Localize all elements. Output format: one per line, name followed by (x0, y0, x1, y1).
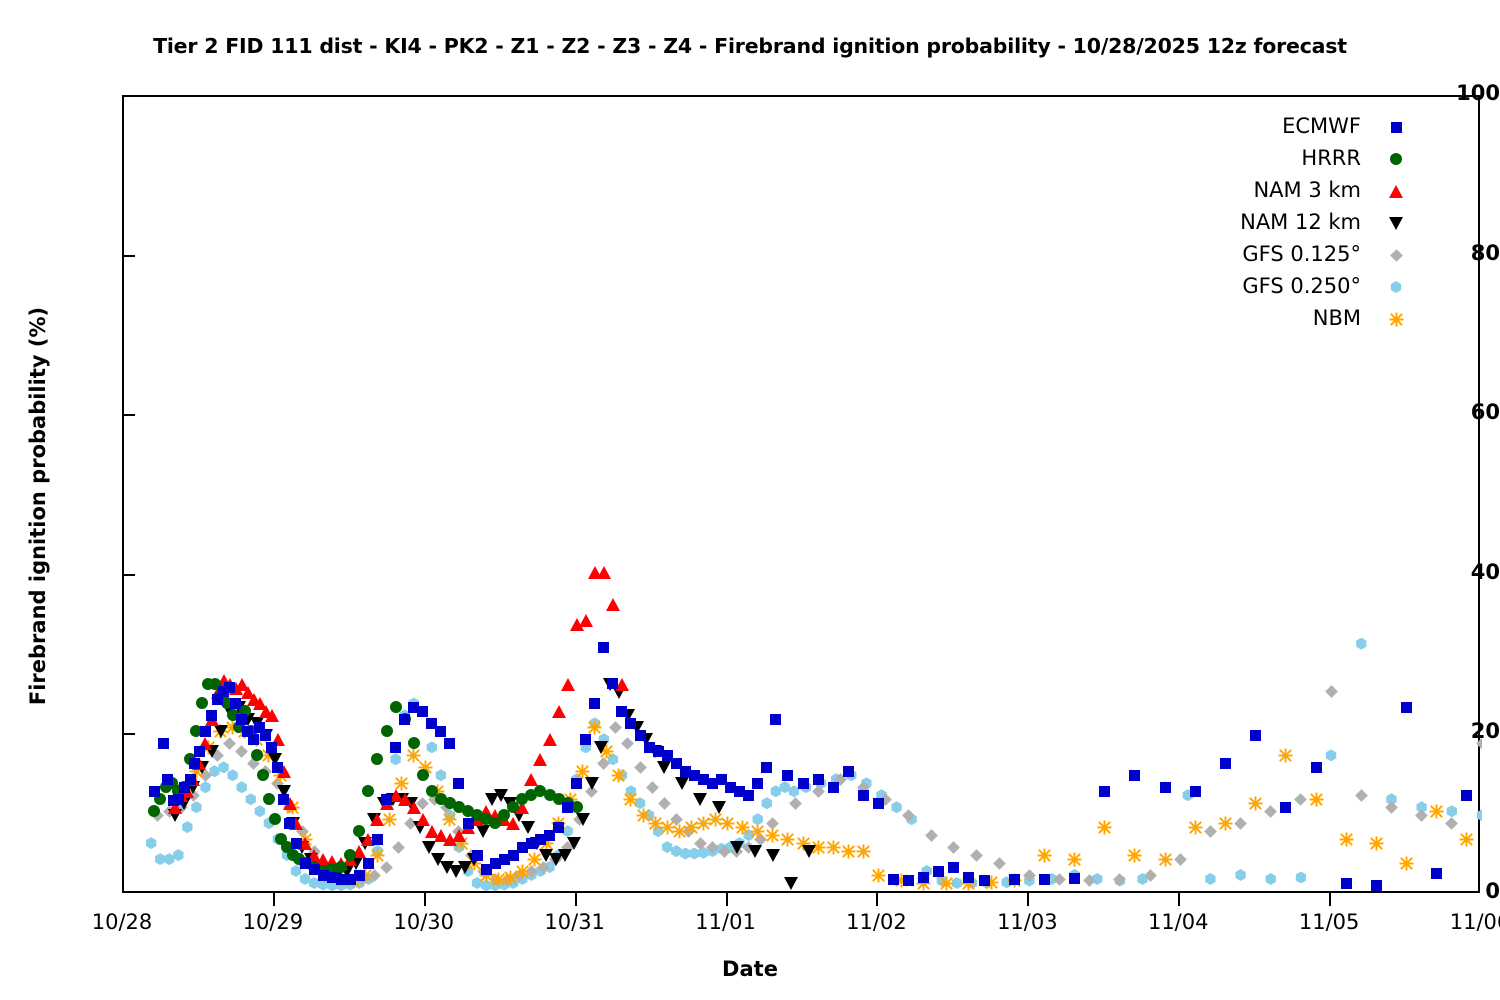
data-point (318, 870, 329, 881)
data-point (770, 714, 781, 725)
x-tick-mark (1027, 893, 1029, 906)
data-point (291, 838, 302, 849)
data-point (616, 706, 627, 717)
data-point (1220, 758, 1231, 769)
data-point (266, 742, 277, 753)
legend-label: NBM (1313, 302, 1361, 334)
y-tick-mark (122, 574, 135, 576)
data-point (1250, 730, 1261, 741)
data-point (1401, 702, 1412, 713)
legend-item-nam-3-km[interactable]: NAM 3 km (1190, 174, 1405, 206)
data-point (381, 794, 392, 805)
data-point (242, 726, 253, 737)
data-point (888, 874, 899, 885)
data-point (508, 850, 519, 861)
data-point (206, 710, 217, 721)
data-point (149, 786, 160, 797)
legend-item-hrrr[interactable]: HRRR (1190, 142, 1405, 174)
legend-marker-square-icon (1387, 118, 1405, 136)
data-point (1341, 878, 1352, 889)
x-tick-label: 11/04 (1113, 910, 1243, 934)
data-point (481, 864, 492, 875)
marker-glyph (1390, 249, 1403, 262)
data-point (653, 746, 664, 757)
data-point (963, 872, 974, 883)
y-tick-label: 100 (1434, 81, 1500, 105)
data-point (725, 782, 736, 793)
y-tick-label: 20 (1434, 719, 1500, 743)
legend-item-nbm[interactable]: NBM (1190, 302, 1405, 334)
x-tick-mark (273, 893, 275, 906)
data-point (354, 870, 365, 881)
data-point (598, 642, 609, 653)
y-tick-label: 80 (1434, 241, 1500, 265)
legend-marker-tri-up-icon (1387, 182, 1405, 200)
data-point (284, 818, 295, 829)
data-point (162, 774, 173, 785)
data-point (1069, 873, 1080, 884)
legend-item-gfs-0-125[interactable]: GFS 0.125° (1190, 238, 1405, 270)
data-point (562, 802, 573, 813)
x-axis-title: Date (0, 957, 1500, 981)
x-tick-label: 11/01 (661, 910, 791, 934)
data-point (200, 726, 211, 737)
data-point (408, 702, 419, 713)
y-tick-mark (122, 414, 135, 416)
page-title: Tier 2 FID 111 dist - KI4 - PK2 - Z1 - Z… (0, 34, 1500, 58)
data-point (1311, 762, 1322, 773)
data-point (707, 778, 718, 789)
data-point (828, 782, 839, 793)
data-point (544, 830, 555, 841)
data-point (390, 742, 401, 753)
data-point (680, 766, 691, 777)
data-point (248, 734, 259, 745)
data-point (743, 790, 754, 801)
data-point (472, 850, 483, 861)
data-point (189, 758, 200, 769)
data-point (918, 872, 929, 883)
legend-label: ECMWF (1282, 110, 1361, 142)
x-tick-mark (1329, 893, 1331, 906)
x-tick-mark (726, 893, 728, 906)
x-tick-label: 10/30 (359, 910, 489, 934)
data-point (798, 778, 809, 789)
y-tick-label: 40 (1434, 560, 1500, 584)
data-point (158, 738, 169, 749)
x-tick-mark (575, 893, 577, 906)
data-point (1371, 880, 1382, 891)
marker-glyph (1389, 185, 1403, 198)
data-point (1280, 802, 1291, 813)
chart-legend: ECMWFHRRRNAM 3 kmNAM 12 kmGFS 0.125°GFS … (1190, 110, 1405, 334)
legend-label: NAM 12 km (1240, 206, 1361, 238)
legend-item-gfs-0-250[interactable]: GFS 0.250° (1190, 270, 1405, 302)
data-point (1461, 790, 1472, 801)
data-point (625, 718, 636, 729)
data-point (345, 874, 356, 885)
data-point (254, 722, 265, 733)
data-point (435, 726, 446, 737)
legend-marker-aster-icon (1387, 310, 1405, 328)
data-point (272, 762, 283, 773)
data-point (1190, 786, 1201, 797)
data-point (752, 778, 763, 789)
data-point (336, 874, 347, 885)
data-point (734, 786, 745, 797)
data-point (1431, 868, 1442, 879)
x-tick-label: 10/28 (57, 910, 187, 934)
data-point (179, 782, 190, 793)
data-point (1039, 874, 1050, 885)
legend-item-ecmwf[interactable]: ECMWF (1190, 110, 1405, 142)
data-point (499, 854, 510, 865)
data-point (526, 838, 537, 849)
marker-glyph (1391, 122, 1402, 133)
data-point (327, 872, 338, 883)
data-point (858, 790, 869, 801)
data-point (230, 698, 241, 709)
data-point (1099, 786, 1110, 797)
data-point (671, 758, 682, 769)
legend-marker-tri-dn-icon (1387, 214, 1405, 232)
y-tick-mark (122, 733, 135, 735)
data-point (363, 858, 374, 869)
x-tick-label: 11/06 (1415, 910, 1500, 934)
data-point (698, 774, 709, 785)
data-point (979, 875, 990, 886)
legend-marker-circle-icon (1387, 150, 1405, 168)
x-tick-mark (1178, 893, 1180, 906)
marker-glyph (1389, 312, 1404, 327)
x-tick-label: 10/29 (208, 910, 338, 934)
data-point (689, 770, 700, 781)
data-point (173, 794, 184, 805)
x-tick-mark (424, 893, 426, 906)
data-point (490, 858, 501, 869)
data-point (948, 862, 959, 873)
data-point (580, 734, 591, 745)
chart-page: Tier 2 FID 111 dist - KI4 - PK2 - Z1 - Z… (0, 0, 1500, 1000)
data-point (278, 794, 289, 805)
data-point (782, 770, 793, 781)
data-point (212, 694, 223, 705)
x-tick-label: 11/03 (962, 910, 1092, 934)
legend-label: GFS 0.125° (1242, 238, 1361, 270)
data-point (517, 842, 528, 853)
marker-glyph (1389, 217, 1403, 230)
data-point (224, 682, 235, 693)
y-tick-mark (122, 255, 135, 257)
data-point (260, 730, 271, 741)
data-point (761, 762, 772, 773)
data-point (444, 738, 455, 749)
data-point (635, 730, 646, 741)
data-point (1009, 874, 1020, 885)
x-tick-label: 10/31 (510, 910, 640, 934)
y-tick-label: 0 (1434, 879, 1500, 903)
marker-glyph (1390, 153, 1402, 165)
data-point (236, 714, 247, 725)
data-point (607, 678, 618, 689)
data-point (813, 774, 824, 785)
data-point (644, 742, 655, 753)
data-point (903, 875, 914, 886)
data-point (168, 795, 179, 806)
data-point (399, 714, 410, 725)
data-point (300, 858, 311, 869)
data-point (185, 774, 196, 785)
data-point (571, 778, 582, 789)
legend-item-nam-12-km[interactable]: NAM 12 km (1190, 206, 1405, 238)
data-point (589, 698, 600, 709)
data-point (716, 774, 727, 785)
data-point (372, 834, 383, 845)
data-point (553, 822, 564, 833)
data-point (194, 746, 205, 757)
data-point (1129, 770, 1140, 781)
data-point (933, 866, 944, 877)
legend-label: HRRR (1301, 142, 1361, 174)
data-point (453, 778, 464, 789)
legend-label: GFS 0.250° (1242, 270, 1361, 302)
data-point (218, 686, 229, 697)
data-point (873, 798, 884, 809)
marker-glyph (1390, 281, 1402, 293)
x-tick-mark (876, 893, 878, 906)
legend-marker-hex-icon (1387, 278, 1405, 296)
data-point (426, 718, 437, 729)
data-point (535, 834, 546, 845)
y-tick-label: 60 (1434, 400, 1500, 424)
x-tick-label: 11/05 (1264, 910, 1394, 934)
data-point (309, 864, 320, 875)
legend-label: NAM 3 km (1253, 174, 1361, 206)
y-axis-title: Firebrand ignition probability (%) (26, 106, 50, 906)
data-point (1160, 782, 1171, 793)
data-point (463, 818, 474, 829)
x-tick-label: 11/02 (811, 910, 941, 934)
data-point (417, 706, 428, 717)
legend-marker-diamond-icon (1387, 246, 1405, 264)
data-point (843, 766, 854, 777)
data-point (662, 750, 673, 761)
